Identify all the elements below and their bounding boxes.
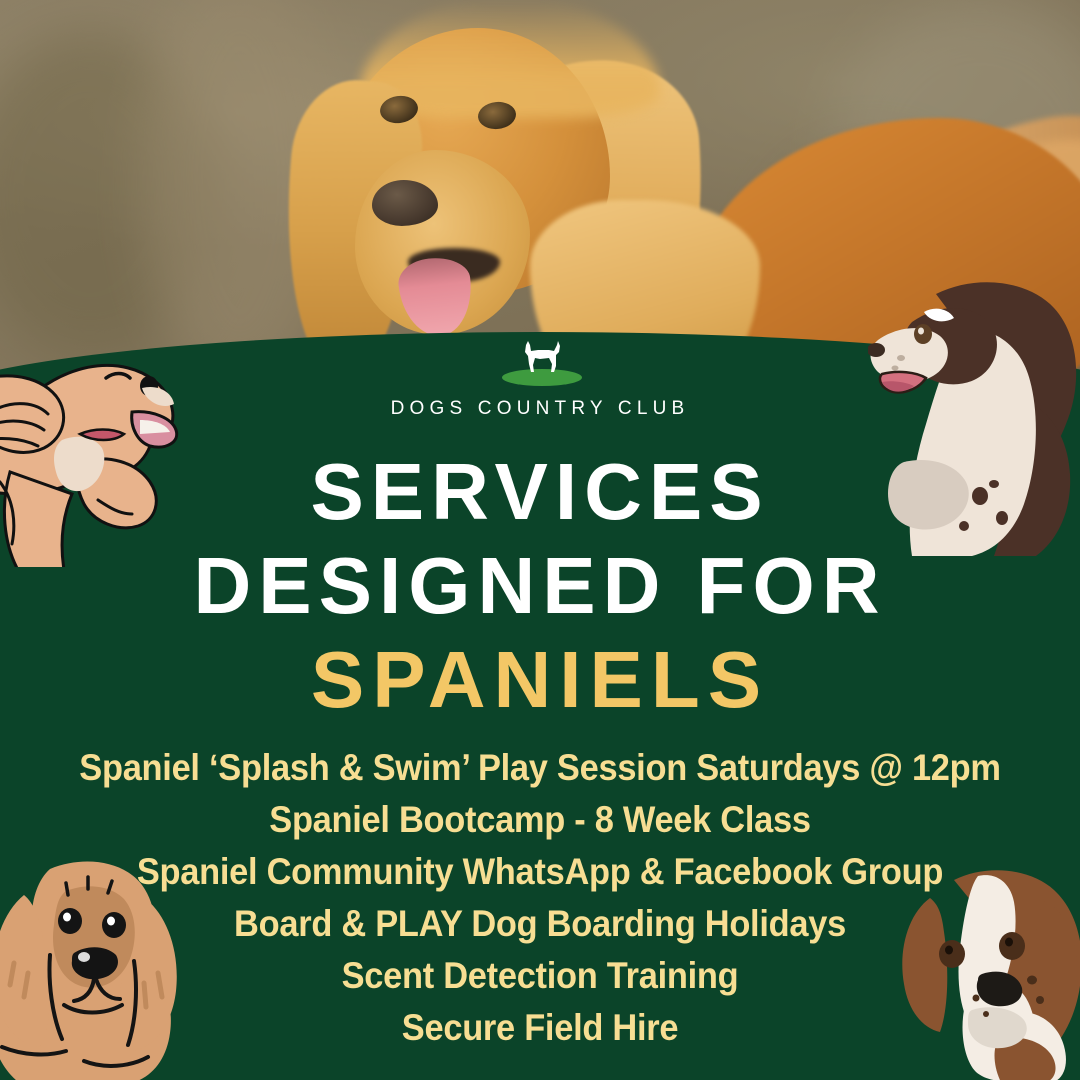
photo-dog-nose [372,180,438,226]
golden-cocker-spaniel-face-illustration [0,855,218,1080]
brown-white-springer-spaniel-illustration [868,278,1080,563]
dog-silhouette-icon [518,340,564,374]
golden-cocker-spaniel-illustration [0,322,200,567]
headline-line-3: SPANIELS [0,633,1080,727]
brown-white-springer-spaniel-face-illustration [890,862,1080,1080]
poster: DOGS COUNTRY CLUB SERVICES DESIGNED FOR … [0,0,1080,1080]
list-item: Spaniel Bootcamp - 8 Week Class [38,794,1042,846]
dog-on-grass-logo-icon [480,340,600,386]
list-item: Spaniel ‘Splash & Swim’ Play Session Sat… [38,742,1042,794]
